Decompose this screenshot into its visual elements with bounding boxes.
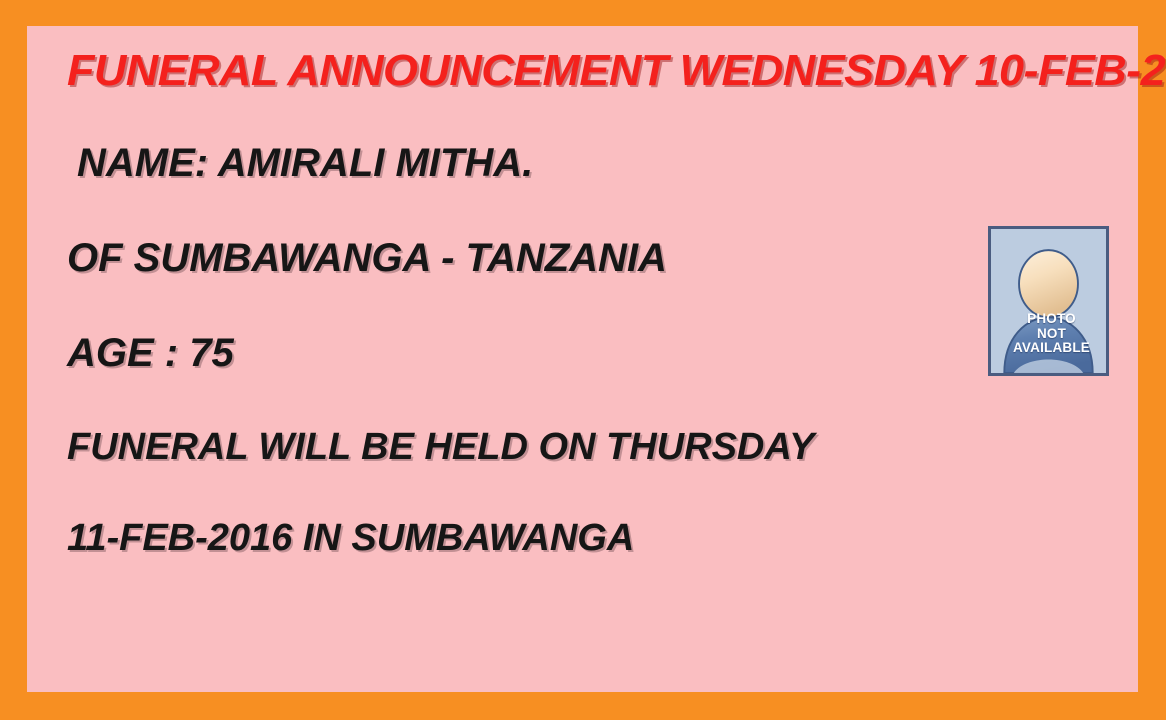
announcement-body: NAME: AMIRALI MITHA. OF SUMBAWANGA - TAN… <box>67 141 967 560</box>
deceased-age-line: AGE : 75 <box>67 331 967 376</box>
announcement-card: FUNERAL ANNOUNCEMENT WEDNESDAY 10-FEB-20… <box>27 26 1138 692</box>
funeral-day-line: FUNERAL WILL BE HELD ON THURSDAY <box>67 426 967 469</box>
announcement-headline: FUNERAL ANNOUNCEMENT WEDNESDAY 10-FEB-20… <box>67 46 1128 96</box>
deceased-origin-line: OF SUMBAWANGA - TANZANIA <box>67 236 967 281</box>
funeral-date-line: 11-FEB-2016 IN SUMBAWANGA <box>67 517 967 560</box>
photo-placeholder: PHOTO NOT AVAILABLE <box>988 226 1109 376</box>
person-silhouette-icon <box>991 229 1106 373</box>
deceased-name-line: NAME: AMIRALI MITHA. <box>77 141 967 186</box>
funeral-announcement-poster: FUNERAL ANNOUNCEMENT WEDNESDAY 10-FEB-20… <box>0 0 1166 720</box>
